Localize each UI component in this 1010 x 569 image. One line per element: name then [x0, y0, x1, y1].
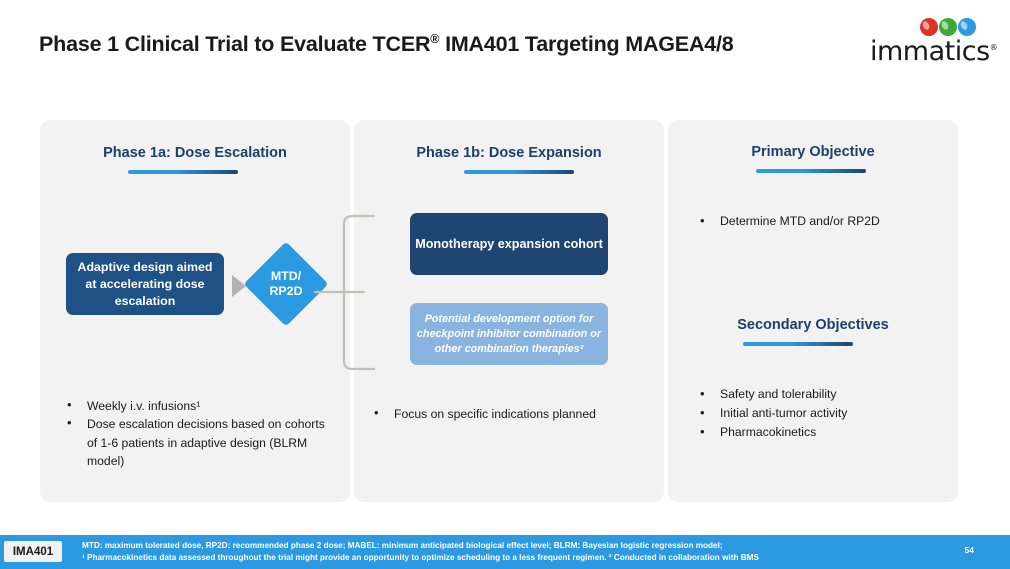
bullet-text: Weekly i.v. infusions¹	[87, 399, 200, 413]
phase-1a-heading-rule	[128, 170, 238, 174]
footnotes: MTD: maximum tolerated dose, RP2D: recom…	[82, 540, 759, 563]
panels-container: Phase 1a: Dose Escalation Adaptive desig…	[40, 120, 958, 502]
phase-1b-bullet-list: Focus on specific indications planned	[372, 405, 662, 423]
mtd-rp2d-line2: RP2D	[269, 284, 302, 299]
footer-bar: IMA401 MTD: maximum tolerated dose, RP2D…	[0, 535, 1010, 569]
list-item: Determine MTD and/or RP2D	[698, 212, 958, 231]
list-item: Safety and tolerability	[698, 385, 958, 404]
logo-green-circle-icon	[939, 18, 957, 36]
list-item: Dose escalation decisions based on cohor…	[65, 415, 330, 470]
phase-1a-heading: Phase 1a: Dose Escalation	[40, 145, 350, 161]
logo-red-circle-icon	[920, 18, 938, 36]
logo-wordmark-text: immatics	[870, 36, 990, 67]
list-item: Weekly i.v. infusions¹	[65, 397, 330, 415]
secondary-objectives-heading: Secondary Objectives	[668, 317, 958, 333]
logo-wordmark: immatics®	[870, 36, 997, 67]
panel-phase-1a: Phase 1a: Dose Escalation Adaptive desig…	[40, 120, 350, 502]
adaptive-design-box: Adaptive design aimed at accelerating do…	[66, 253, 224, 315]
secondary-objectives-heading-rule	[743, 342, 853, 346]
slide-page-number: 54	[965, 545, 974, 555]
list-item: Initial anti-tumor activity	[698, 404, 958, 423]
bullet-text: Pharmacokinetics	[720, 425, 816, 439]
phase-1b-heading-rule	[464, 170, 574, 174]
panel-objectives: Primary Objective Determine MTD and/or R…	[668, 120, 958, 502]
list-item: Focus on specific indications planned	[372, 405, 662, 423]
list-item: Pharmacokinetics	[698, 423, 958, 442]
phase-1a-bullet-list: Weekly i.v. infusions¹ Dose escalation d…	[65, 397, 330, 470]
mtd-rp2d-diamond-label: MTD/ RP2D	[256, 254, 316, 314]
primary-objective-heading: Primary Objective	[668, 144, 958, 160]
page-title-part1: Phase 1 Clinical Trial to Evaluate TCER	[39, 32, 430, 56]
immatics-logo: immatics®	[870, 18, 978, 66]
page-title-part2: IMA401 Targeting MAGEA4/8	[439, 32, 733, 56]
panel-phase-1b: Phase 1b: Dose Expansion Monotherapy exp…	[354, 120, 664, 502]
mtd-rp2d-line1: MTD/	[271, 269, 301, 284]
potential-development-option-box: Potential development option for checkpo…	[410, 303, 608, 365]
registered-mark-icon: ®	[430, 32, 439, 46]
arrow-right-icon	[232, 275, 246, 297]
logo-blue-circle-icon	[958, 18, 976, 36]
bullet-text: Safety and tolerability	[720, 387, 837, 401]
footnote-line-2: ¹ Pharmacokinetics data assessed through…	[82, 552, 759, 564]
footer-program-tag: IMA401	[4, 541, 62, 562]
primary-objective-heading-rule	[756, 169, 866, 173]
footnote-line-1: MTD: maximum tolerated dose, RP2D: recom…	[82, 540, 759, 552]
monotherapy-expansion-box: Monotherapy expansion cohort	[410, 213, 608, 275]
page-title: Phase 1 Clinical Trial to Evaluate TCER®…	[39, 32, 734, 57]
bullet-text: Initial anti-tumor activity	[720, 406, 847, 420]
phase-1b-heading: Phase 1b: Dose Expansion	[354, 145, 664, 161]
bullet-text: Focus on specific indications planned	[394, 407, 596, 421]
secondary-objectives-bullet-list: Safety and tolerability Initial anti-tum…	[698, 385, 958, 442]
logo-dots-group	[920, 18, 976, 37]
primary-objective-bullet-list: Determine MTD and/or RP2D	[698, 212, 958, 231]
bullet-text: Determine MTD and/or RP2D	[720, 214, 880, 228]
logo-registered-mark-icon: ®	[990, 42, 998, 52]
bullet-text: Dose escalation decisions based on cohor…	[87, 417, 325, 468]
